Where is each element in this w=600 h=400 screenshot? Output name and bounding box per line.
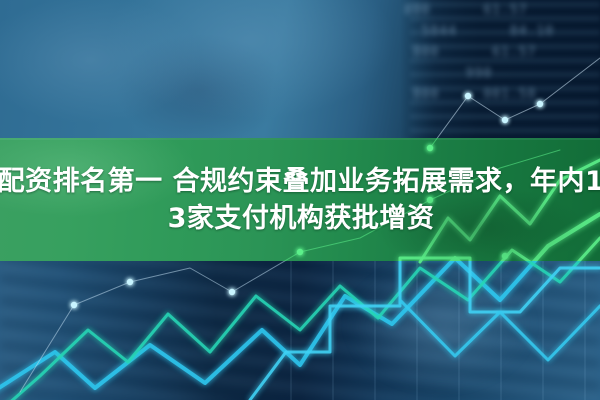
chart-node-dot — [71, 302, 77, 308]
headline-block: 配资排名第一 合规约束叠加业务拓展需求，年内1 3家支付机构获批增资 — [0, 138, 600, 261]
chart-line-teal-secondary-trend — [0, 238, 600, 400]
chart-node-dot — [465, 93, 471, 99]
news-banner: 800 61.57 5844 84.10 800 61.57 990 800 0… — [0, 0, 600, 400]
chart-line-cyan-vee-line — [400, 300, 600, 360]
chart-line-white-node-polyline — [430, 58, 600, 148]
chart-node-dot — [127, 279, 133, 285]
headline-line-1: 配资排名第一 合规约束叠加业务拓展需求，年内1 — [0, 163, 600, 200]
chart-node-dot — [537, 101, 543, 107]
chart-node-dot — [502, 117, 508, 123]
chart-node-dot — [229, 289, 235, 295]
headline-line-2: 3家支付机构获批增资 — [168, 200, 435, 237]
